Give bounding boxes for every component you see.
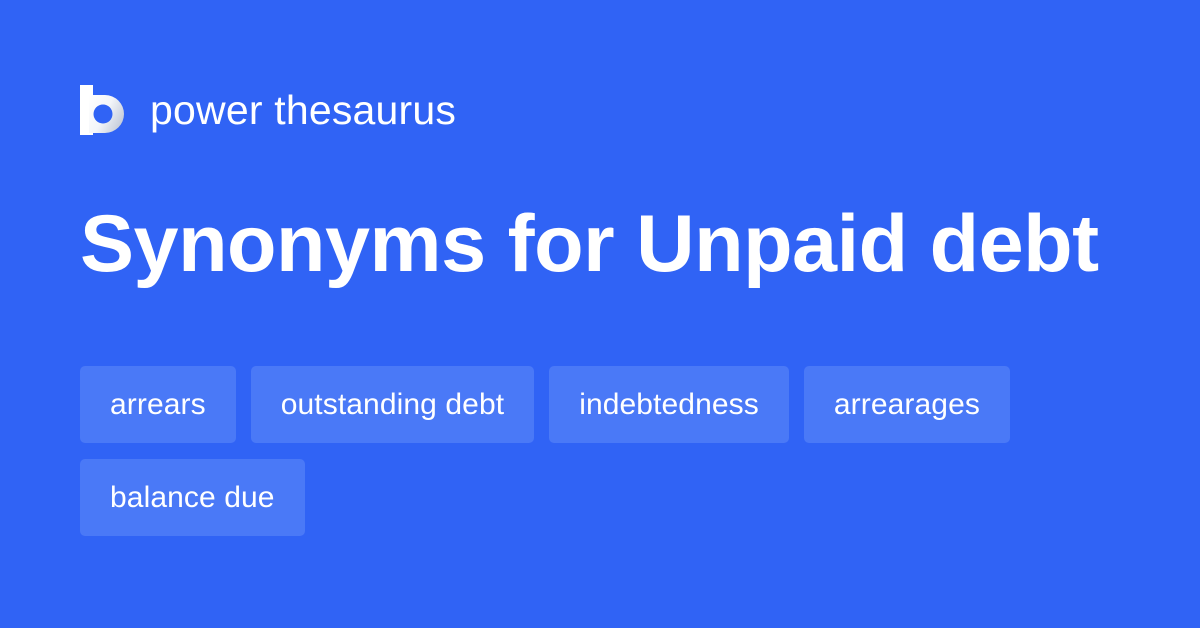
synonym-chip[interactable]: balance due	[80, 459, 305, 536]
synonym-chip[interactable]: arrearages	[804, 366, 1010, 443]
synonym-chip[interactable]: arrears	[80, 366, 236, 443]
brand-lockup[interactable]: power thesaurus	[80, 80, 456, 140]
share-card: power thesaurus Synonyms for Unpaid debt…	[0, 0, 1200, 628]
page-title: Synonyms for Unpaid debt	[80, 196, 1140, 292]
power-thesaurus-b-logo-icon	[80, 85, 126, 135]
synonym-chip[interactable]: outstanding debt	[251, 366, 534, 443]
brand-name: power thesaurus	[150, 85, 456, 135]
synonym-chip[interactable]: indebtedness	[549, 366, 789, 443]
synonym-chip-list: arrears outstanding debt indebtedness ar…	[80, 366, 1130, 536]
